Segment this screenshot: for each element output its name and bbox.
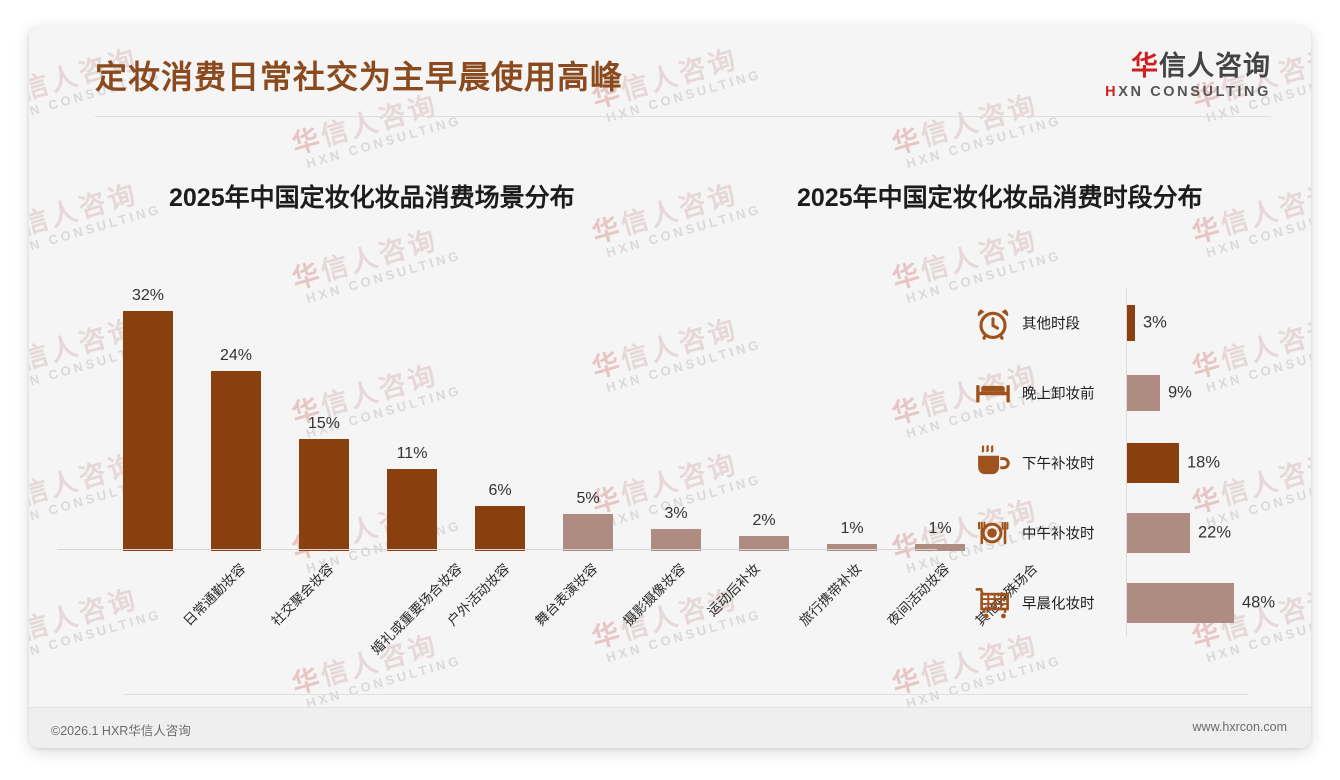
bar-value-label: 18% (1187, 454, 1220, 473)
column-bar-group[interactable]: 15% (299, 258, 349, 551)
horizontal-bar[interactable] (1127, 583, 1234, 623)
bar-category-label: 其他时段 (1022, 313, 1080, 334)
column-bar[interactable] (387, 469, 437, 552)
bar-value-label: 22% (1198, 524, 1231, 543)
bar-category-label: 早晨化妆时 (1022, 593, 1095, 614)
logo-char-hua: 华 (1131, 51, 1159, 81)
column-bar[interactable] (475, 506, 525, 551)
logo-en-h: H (1105, 84, 1118, 100)
column-category-label: 旅行携带补妆 (794, 558, 865, 629)
logo-chars-rest: 信人咨询 (1159, 51, 1271, 81)
horizontal-bar[interactable] (1127, 305, 1135, 341)
header-divider (95, 116, 1271, 117)
column-value-label: 6% (488, 482, 511, 500)
column-bar[interactable] (563, 514, 613, 552)
scenario-distribution-chart: 32%24%15%11%6%5%3%2%1%1% 日常通勤妆容社交聚会妆容婚礼或… (57, 256, 937, 656)
horizontal-bar[interactable] (1127, 375, 1160, 411)
bed-icon (974, 374, 1012, 412)
bar-category-label: 下午补妆时 (1022, 453, 1095, 474)
column-category-label: 运动后补妆 (702, 558, 764, 620)
bar-category-label: 中午补妆时 (1022, 523, 1095, 544)
bar-chart-row[interactable]: 其他时段3% (964, 292, 1284, 354)
watermark-text: 华信人咨询HXN CONSULTING (1189, 174, 1311, 262)
column-value-label: 2% (752, 512, 775, 530)
logo-chinese: 华信人咨询 (1105, 52, 1271, 82)
bar-value-label: 9% (1168, 384, 1192, 403)
column-bar-group[interactable]: 5% (563, 258, 613, 551)
footer-copyright: ©2026.1 HXR华信人咨询 (51, 720, 191, 739)
slide-header: 定妆消费日常社交为主早晨使用高峰 华信人咨询 HXN CONSULTING (29, 26, 1311, 121)
column-bar-group[interactable]: 32% (123, 258, 173, 551)
chart-title-timeslots: 2025年中国定妆化妆品消费时段分布 (797, 178, 1203, 214)
logo-en-rest: XN CONSULTING (1118, 84, 1271, 100)
column-value-label: 1% (928, 520, 951, 538)
slide-card: 华信人咨询HXN CONSULTING华信人咨询HXN CONSULTING华信… (29, 26, 1311, 748)
coffee-cup-icon (974, 444, 1012, 482)
watermark-text: 华信人咨询HXN CONSULTING (29, 174, 163, 262)
column-bar-group[interactable]: 2% (739, 258, 789, 551)
chart-title-scenarios: 2025年中国定妆化妆品消费场景分布 (169, 178, 575, 214)
horizontal-bar[interactable] (1127, 513, 1190, 553)
column-bar-group[interactable]: 6% (475, 258, 525, 551)
column-bar[interactable] (123, 311, 173, 551)
bar-category-label: 晚上卸妆前 (1022, 383, 1095, 404)
column-bar[interactable] (299, 439, 349, 552)
column-value-label: 5% (576, 490, 599, 508)
bar-chart-row[interactable]: 下午补妆时18% (964, 432, 1284, 494)
column-value-label: 15% (308, 415, 340, 433)
column-category-label: 舞台表演妆容 (530, 558, 601, 629)
column-value-label: 1% (840, 520, 863, 538)
column-value-label: 11% (397, 445, 428, 463)
column-value-label: 24% (220, 347, 252, 365)
column-value-label: 32% (132, 287, 164, 305)
shopping-cart-icon (974, 584, 1012, 622)
column-category-label: 日常通勤妆容 (178, 558, 249, 629)
bar-chart-row[interactable]: 晚上卸妆前9% (964, 362, 1284, 424)
bar-value-label: 3% (1143, 314, 1167, 333)
bar-value-label: 48% (1242, 594, 1275, 613)
bar-chart-row[interactable]: 早晨化妆时48% (964, 572, 1284, 634)
footer-website: www.hxrcon.com (1193, 720, 1287, 734)
source-divider (124, 694, 1249, 695)
brand-logo: 华信人咨询 HXN CONSULTING (1105, 52, 1271, 100)
column-bar[interactable] (651, 529, 701, 552)
timeslot-distribution-chart: 其他时段3%晚上卸妆前9%下午补妆时18%中午补妆时22%早晨化妆时48% (964, 288, 1284, 643)
plate-cutlery-icon (974, 514, 1012, 552)
column-bar-group[interactable]: 3% (651, 258, 701, 551)
column-category-label: 摄影摄像妆容 (618, 558, 689, 629)
column-chart-baseline (57, 549, 937, 550)
column-category-label: 社交聚会妆容 (266, 558, 337, 629)
page-title: 定妆消费日常社交为主早晨使用高峰 (95, 52, 623, 98)
column-category-label: 夜间活动妆容 (882, 558, 953, 629)
slide-footer: ©2026.1 HXR华信人咨询 www.hxrcon.com (29, 707, 1311, 748)
horizontal-bar[interactable] (1127, 443, 1179, 483)
bar-chart-row[interactable]: 中午补妆时22% (964, 502, 1284, 564)
column-plot-area: 32%24%15%11%6%5%3%2%1%1% (57, 256, 937, 551)
column-bar-group[interactable]: 1% (827, 258, 877, 551)
column-bar-group[interactable]: 1% (915, 258, 965, 551)
logo-english: HXN CONSULTING (1105, 84, 1271, 100)
column-value-label: 3% (664, 505, 687, 523)
column-bar-group[interactable]: 11% (387, 258, 437, 551)
watermark-text: 华信人咨询HXN CONSULTING (589, 174, 763, 262)
alarm-clock-icon (974, 304, 1012, 342)
column-bar[interactable] (211, 371, 261, 551)
column-bar-group[interactable]: 24% (211, 258, 261, 551)
